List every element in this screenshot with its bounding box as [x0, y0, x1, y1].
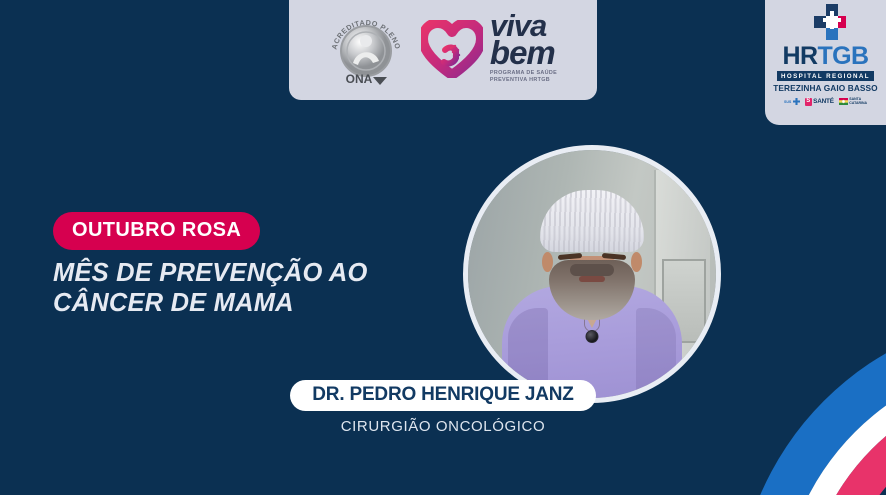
sus-cross-icon: [793, 98, 800, 105]
headline-block: OUTUBRO ROSA MÊS DE PREVENÇÃO AO CÂNCER …: [53, 212, 413, 318]
speaker-name: DR. PEDRO HENRIQUE JANZ: [290, 380, 595, 411]
santa-catarina-badge: SANTA CATARINA: [839, 98, 867, 106]
partner-logo-panel: ACREDITADO PLENO ONA: [289, 0, 597, 100]
campaign-slide: ACREDITADO PLENO ONA: [0, 0, 886, 495]
campaign-subtitle: MÊS DE PREVENÇÃO AO CÂNCER DE MAMA: [53, 258, 413, 318]
campaign-subtitle-line-2: CÂNCER DE MAMA: [53, 288, 413, 318]
sus-badge: SUS: [784, 98, 800, 105]
vivabem-subtitle-line-2: PREVENTIVA HRTGB: [490, 77, 557, 84]
svg-text:ONA: ONA: [346, 72, 373, 86]
hospital-logo-panel: HRTGB HOSPITAL REGIONAL TEREZINHA GAIO B…: [765, 0, 886, 125]
corner-ribbon-bottom-right: [736, 313, 886, 495]
speaker-nameplate: DR. PEDRO HENRIQUE JANZ CIRURGIÃO ONCOLÓ…: [233, 380, 653, 435]
medical-cross-icon: [806, 2, 846, 42]
corner-ribbon-top-left: [0, 0, 150, 182]
hospital-full-name: TEREZINHA GAIO BASSO: [773, 83, 878, 93]
ona-medallion-icon: ACREDITADO PLENO ONA: [329, 11, 403, 87]
doctor-portrait: [463, 145, 721, 403]
hospital-acronym: HRTGB: [783, 44, 869, 69]
speaker-role: CIRURGIÃO ONCOLÓGICO: [233, 418, 653, 435]
campaign-badge: OUTUBRO ROSA: [53, 212, 260, 250]
hospital-acronym-hr: HR: [783, 42, 818, 70]
campaign-subtitle-line-1: MÊS DE PREVENÇÃO AO: [53, 258, 413, 288]
santa-catarina-flag-icon: [839, 98, 848, 105]
vivabem-logo: viva bem PROGRAMA DE SAÚDE PREVENTIVA HR…: [421, 13, 557, 84]
vivabem-subtitle-line-1: PROGRAMA DE SAÚDE: [490, 70, 557, 77]
hospital-acronym-tgb: TGB: [817, 42, 868, 70]
sante-badge: S SANTÉ: [805, 98, 834, 106]
vivabem-word-bem: bem: [490, 39, 557, 66]
heart-hand-icon: [421, 20, 483, 78]
hospital-partner-badges: SUS S SANTÉ SANTA CATARINA: [784, 98, 867, 106]
hospital-subtitle: HOSPITAL REGIONAL: [777, 71, 874, 81]
